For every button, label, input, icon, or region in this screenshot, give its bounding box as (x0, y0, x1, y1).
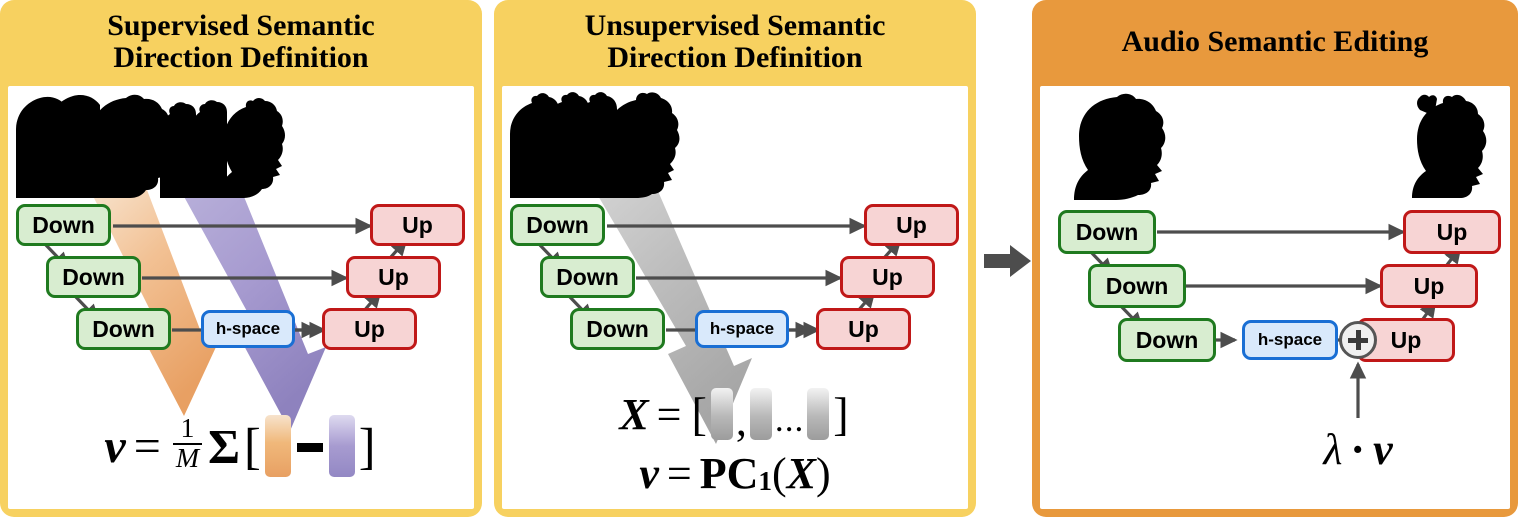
unsupervised-formula-X: X = [ , ... ] (502, 378, 968, 450)
purple-latent-swatch (329, 415, 355, 477)
down-block-1[interactable]: Down (510, 204, 605, 246)
down-block-3[interactable]: Down (1118, 318, 1216, 362)
formula-lhs-v: v (104, 419, 125, 474)
formula-numerator: 1 (177, 415, 197, 443)
formula-open-bracket: [ (690, 388, 709, 441)
formula-close-bracket: ] (831, 388, 850, 441)
formula-lhs-v: v (639, 448, 659, 499)
panel-supervised: Supervised Semantic Direction Definition (0, 0, 482, 517)
gray-latent-swatch-1 (711, 388, 733, 440)
unsupervised-formula-v: v = PC 1 ( X ) (502, 444, 968, 502)
panel-editing: Audio Semantic Editing (1032, 0, 1518, 517)
h-space-block[interactable]: h-space (1242, 320, 1338, 360)
formula-comma: , (735, 395, 748, 446)
down-block-3[interactable]: Down (76, 308, 171, 350)
formula-paren-close: ) (816, 448, 831, 499)
h-space-block[interactable]: h-space (695, 310, 789, 348)
plus-operator[interactable] (1339, 321, 1377, 359)
up-block-1[interactable]: Up (1403, 210, 1501, 254)
up-block-3[interactable]: Up (322, 308, 417, 350)
mixed-head-group (506, 90, 706, 198)
gray-latent-swatch-2 (750, 388, 772, 440)
up-block-1[interactable]: Up (370, 204, 465, 246)
formula-equals: = (649, 389, 690, 440)
panel-editing-body: Down Down Down h-space Up Up Up λ · v (1040, 86, 1510, 509)
editing-formula-lambda-v: λ · v (1268, 416, 1448, 482)
up-block-1[interactable]: Up (864, 204, 959, 246)
formula-open-bracket: [ (242, 417, 263, 475)
up-block-2[interactable]: Up (346, 256, 441, 298)
panel-unsupervised-body: Down Down Down h-space Up Up Up X = [ , … (502, 86, 968, 509)
formula-denominator: M (173, 443, 202, 473)
down-block-1[interactable]: Down (1058, 210, 1156, 254)
panel-supervised-header: Supervised Semantic Direction Definition (0, 0, 482, 86)
orange-latent-swatch (265, 415, 291, 477)
down-block-1[interactable]: Down (16, 204, 111, 246)
formula-vector-v: v (1373, 424, 1393, 475)
formula-arg-X: X (787, 448, 816, 499)
formula-equals: = (659, 448, 700, 499)
formula-fraction: 1 M (173, 415, 202, 474)
formula-sigma: Σ (206, 418, 242, 475)
panel-supervised-title-line2: Direction Definition (107, 42, 375, 74)
formula-close-bracket: ] (357, 417, 378, 475)
up-block-2[interactable]: Up (1380, 264, 1478, 308)
panel-supervised-title-line1: Supervised Semantic (107, 10, 375, 42)
panel-editing-header: Audio Semantic Editing (1032, 0, 1518, 86)
supervised-formula: v = 1 M Σ [ ] (8, 396, 474, 496)
formula-lhs-X: X (619, 389, 648, 440)
formula-pc-func: PC (700, 448, 759, 499)
female-head-group (156, 96, 306, 198)
panel-unsupervised-title-line2: Direction Definition (585, 42, 886, 74)
up-block-2[interactable]: Up (840, 256, 935, 298)
down-block-2[interactable]: Down (1088, 264, 1186, 308)
down-block-2[interactable]: Down (46, 256, 141, 298)
formula-pc-subscript: 1 (758, 466, 772, 497)
panel-supervised-body: Down Down Down h-space Up Up Up v = 1 M … (8, 86, 474, 509)
down-block-3[interactable]: Down (570, 308, 665, 350)
figure-canvas: Supervised Semantic Direction Definition (0, 0, 1518, 517)
formula-ellipsis: ... (774, 400, 805, 440)
down-block-2[interactable]: Down (540, 256, 635, 298)
formula-equals: = (126, 419, 169, 474)
panel-unsupervised-header: Unsupervised Semantic Direction Definiti… (494, 0, 976, 86)
formula-dot-operator: · (1342, 424, 1373, 475)
gray-latent-swatch-n (807, 388, 829, 440)
pipeline-step-arrow (984, 243, 1032, 279)
formula-minus-operator (297, 443, 323, 452)
male-head-input (1068, 92, 1168, 200)
formula-lambda: λ (1323, 424, 1342, 475)
panel-unsupervised-title-line1: Unsupervised Semantic (585, 10, 886, 42)
h-space-block[interactable]: h-space (201, 310, 295, 348)
purple-direction-ribbon (176, 182, 326, 431)
panel-unsupervised: Unsupervised Semantic Direction Definiti… (494, 0, 976, 517)
female-head-output (1398, 94, 1498, 198)
up-block-3[interactable]: Up (816, 308, 911, 350)
formula-paren-open: ( (772, 448, 787, 499)
panel-editing-title: Audio Semantic Editing (1122, 26, 1429, 58)
